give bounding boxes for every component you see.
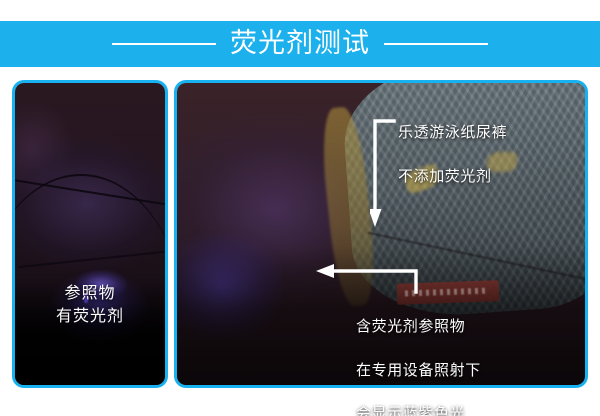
uv-photo-reference [15, 83, 165, 385]
callout-reference-glows: 含荧光剂参照物 在专用设备照射下 会显示蓝紫色光 [356, 294, 481, 416]
panel-left-inner: 参照物 有荧光剂 [15, 83, 165, 385]
header-rule-right-icon [384, 43, 488, 45]
callout-no-fluorescent: 乐透游泳纸尿裤 不添加荧光剂 [398, 100, 507, 209]
header-rule-left-icon [112, 43, 216, 45]
arrow-left-icon [316, 262, 418, 294]
page-title: 荧光剂测试 [230, 30, 370, 59]
left-panel-caption: 参照物 有荧光剂 [15, 283, 165, 328]
header-band: 荧光剂测试 [0, 21, 600, 67]
callout-bottom-line-3: 会显示蓝紫色光 [356, 403, 481, 416]
arrow-down-icon [370, 119, 396, 229]
fluorescent-test-infographic: 荧光剂测试 参照物 有荧光剂 [0, 0, 600, 416]
callout-top-line-2: 不添加荧光剂 [398, 166, 507, 188]
panel-reference-object: 参照物 有荧光剂 [12, 80, 168, 388]
callout-bottom-line-2: 在专用设备照射下 [356, 360, 481, 382]
left-caption-line-1: 参照物 [15, 283, 165, 306]
callout-bottom-line-1: 含荧光剂参照物 [356, 316, 481, 338]
callout-top-line-1: 乐透游泳纸尿裤 [398, 122, 507, 144]
left-caption-line-2: 有荧光剂 [15, 306, 165, 329]
